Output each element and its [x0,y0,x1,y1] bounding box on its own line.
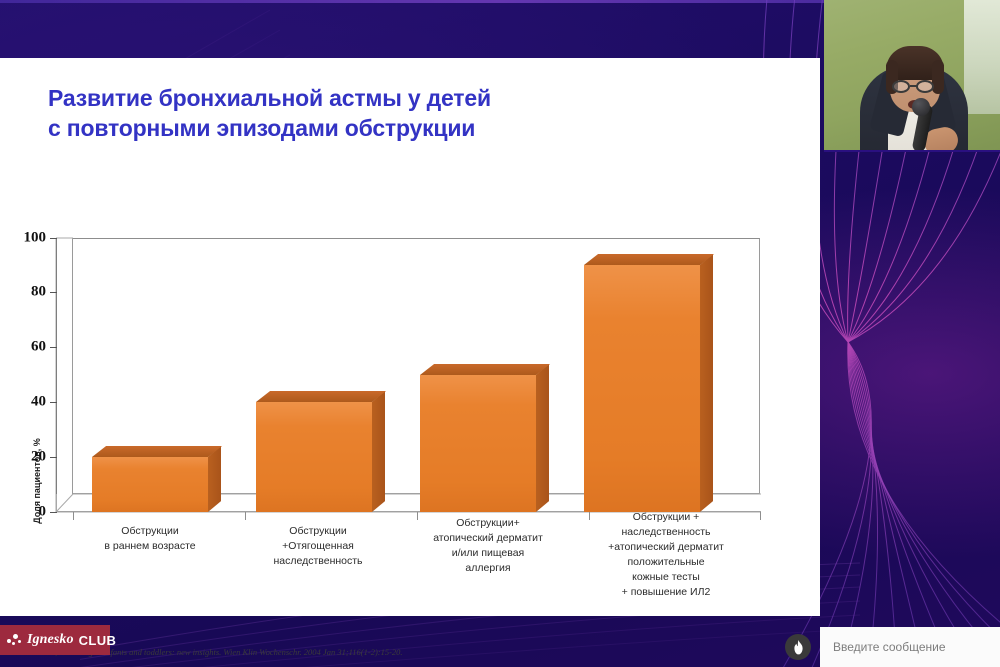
chat-message-input[interactable]: Введите сообщение [820,627,1000,667]
x-category-label-1-line-2: в раннем возрасте [60,539,240,554]
y-tick-mark-60 [50,347,57,348]
x-tick-mark-1 [245,512,246,520]
microphone-icon [912,98,930,116]
x-category-label-2: Обструкции +Отягощенная наследственность [228,524,408,569]
y-tick-label-40: 40 [0,394,46,411]
chat-user-avatar[interactable] [785,634,811,660]
y-tick-label-20: 20 [0,449,46,466]
bar-obstruction-all-factors[interactable] [584,265,700,512]
x-category-label-4-line-1: Обструкции + [566,510,766,525]
bar-top-face [420,364,550,375]
y-tick-label-0: 0 [0,504,46,521]
y-tick-mark-100 [50,238,57,239]
x-category-label-3-line-2: атопический дерматит [392,531,584,546]
x-category-label-1-line-1: Обструкции [60,524,240,539]
presenter-eyeglass-right [916,80,934,93]
bar-obstruction-atopic-dermatitis[interactable] [420,375,536,512]
bar-obstruction-early-age[interactable] [92,457,208,512]
x-category-label-4-line-5: кожные тесты [566,570,766,585]
slide-title: Развитие бронхиальной астмы у детей с по… [48,84,768,144]
x-tick-mark-0 [73,512,74,520]
x-category-label-2-line-2: +Отягощенная [228,539,408,554]
y-tick-mark-40 [50,402,57,403]
x-category-label-3-line-1: Обструкции+ [392,516,584,531]
x-category-label-4-line-6: + повышение ИЛ2 [566,585,766,600]
presentation-slide: Развитие бронхиальной астмы у детей с по… [0,58,820,616]
x-category-label-2-line-1: Обструкции [228,524,408,539]
chat-input-placeholder: Введите сообщение [833,640,946,654]
logo-word: Ignesko [27,632,74,648]
bar-side-face [208,446,221,512]
presenter-eyeglass-left [892,80,910,93]
bar-top-face [256,391,386,402]
presenter-eyeglass-bridge [910,85,918,87]
x-category-label-1: Обструкции в раннем возрасте [60,524,240,554]
bar-side-face [372,391,385,512]
ignesko-club-logo[interactable]: Ignesko CLUB [0,625,110,655]
webinar-viewer: Развитие бронхиальной астмы у детей с по… [0,0,1000,667]
y-tick-label-60: 60 [0,339,46,356]
webcam-window [964,0,1000,114]
bar-side-face [700,254,713,512]
x-category-label-3: Обструкции+ атопический дерматит и/или п… [392,516,584,576]
x-category-label-2-line-3: наследственность [228,554,408,569]
bar-chart: Доля пациентов, % 100 80 60 [0,166,820,616]
bar-top-face [584,254,714,265]
presenter-webcam-tile[interactable] [824,0,1000,152]
slide-title-line-2: с повторными эпизодами обструкции [48,114,768,144]
logo-suffix: CLUB [79,633,117,648]
y-tick-mark-0 [50,512,57,513]
x-category-label-3-line-3: и/или пищевая [392,546,584,561]
slide-title-line-1: Развитие бронхиальной астмы у детей [48,84,768,114]
presenter-hair-right [932,60,944,94]
bar-front-face [256,402,372,512]
bar-front-face [420,375,536,512]
x-category-label-4-line-4: положительные [566,555,766,570]
bar-top-face [92,446,222,457]
dots-cluster-icon [7,633,22,647]
x-category-label-4-line-2: наследственность [566,525,766,540]
y-tick-mark-20 [50,457,57,458]
y-tick-mark-80 [50,292,57,293]
bar-front-face [584,265,700,512]
y-tick-label-80: 80 [0,284,46,301]
flame-icon [792,640,805,655]
x-category-label-4: Обструкции + наследственность +атопическ… [566,510,766,599]
bar-side-face [536,364,549,512]
x-category-label-3-line-4: аллергия [392,561,584,576]
y-tick-label-100: 100 [0,230,46,247]
x-category-label-4-line-3: +атопический дерматит [566,540,766,555]
bar-obstruction-heredity[interactable] [256,402,372,512]
bar-front-face [92,457,208,512]
